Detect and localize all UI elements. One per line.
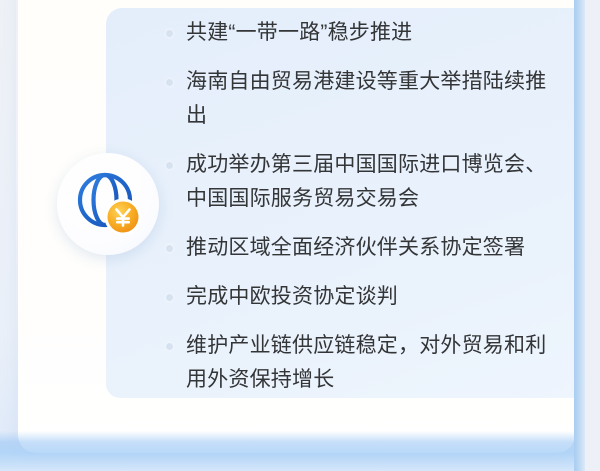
- list-item: 完成中欧投资协定谈判: [166, 280, 566, 314]
- list-item-label: 海南自由贸易港建设等重大举措陆续推出: [186, 65, 566, 133]
- list-item: 共建“一带一路”稳步推进: [166, 16, 566, 50]
- list-item-label: 共建“一带一路”稳步推进: [186, 16, 566, 50]
- bullet-dot-icon: [166, 294, 173, 301]
- bottom-decorative-band: [0, 431, 600, 471]
- bullet-dot-icon: [166, 79, 173, 86]
- list-item: 成功举办第三届中国国际进口博览会、中国国际服务贸易交易会: [166, 148, 566, 216]
- left-edge-strip: [0, 0, 16, 471]
- bullet-dot-icon: [166, 245, 173, 252]
- white-card: 共建“一带一路”稳步推进 海南自由贸易港建设等重大举措陆续推出 成功举办第三届中…: [18, 0, 575, 453]
- infographic-stage: 共建“一带一路”稳步推进 海南自由贸易港建设等重大举措陆续推出 成功举办第三届中…: [0, 0, 600, 471]
- bullet-dot-icon: [166, 343, 173, 350]
- list-item-label: 成功举办第三届中国国际进口博览会、中国国际服务贸易交易会: [186, 148, 566, 216]
- bullet-list: 共建“一带一路”稳步推进 海南自由贸易港建设等重大举措陆续推出 成功举办第三届中…: [166, 16, 566, 397]
- list-item: 海南自由贸易港建设等重大举措陆续推出: [166, 65, 566, 133]
- bullet-dot-icon: [166, 162, 173, 169]
- right-outer-margin: [585, 0, 600, 471]
- list-item: 维护产业链供应链稳定，对外贸易和利用外资保持增长: [166, 329, 566, 397]
- globe-yuan-icon: [57, 153, 159, 255]
- list-item-label: 维护产业链供应链稳定，对外贸易和利用外资保持增长: [186, 329, 566, 397]
- right-edge-blue-strip: [574, 0, 585, 471]
- bullet-dot-icon: [166, 30, 173, 37]
- list-item-label: 推动区域全面经济伙伴关系协定签署: [186, 231, 566, 265]
- list-item: 推动区域全面经济伙伴关系协定签署: [166, 231, 566, 265]
- list-item-label: 完成中欧投资协定谈判: [186, 280, 566, 314]
